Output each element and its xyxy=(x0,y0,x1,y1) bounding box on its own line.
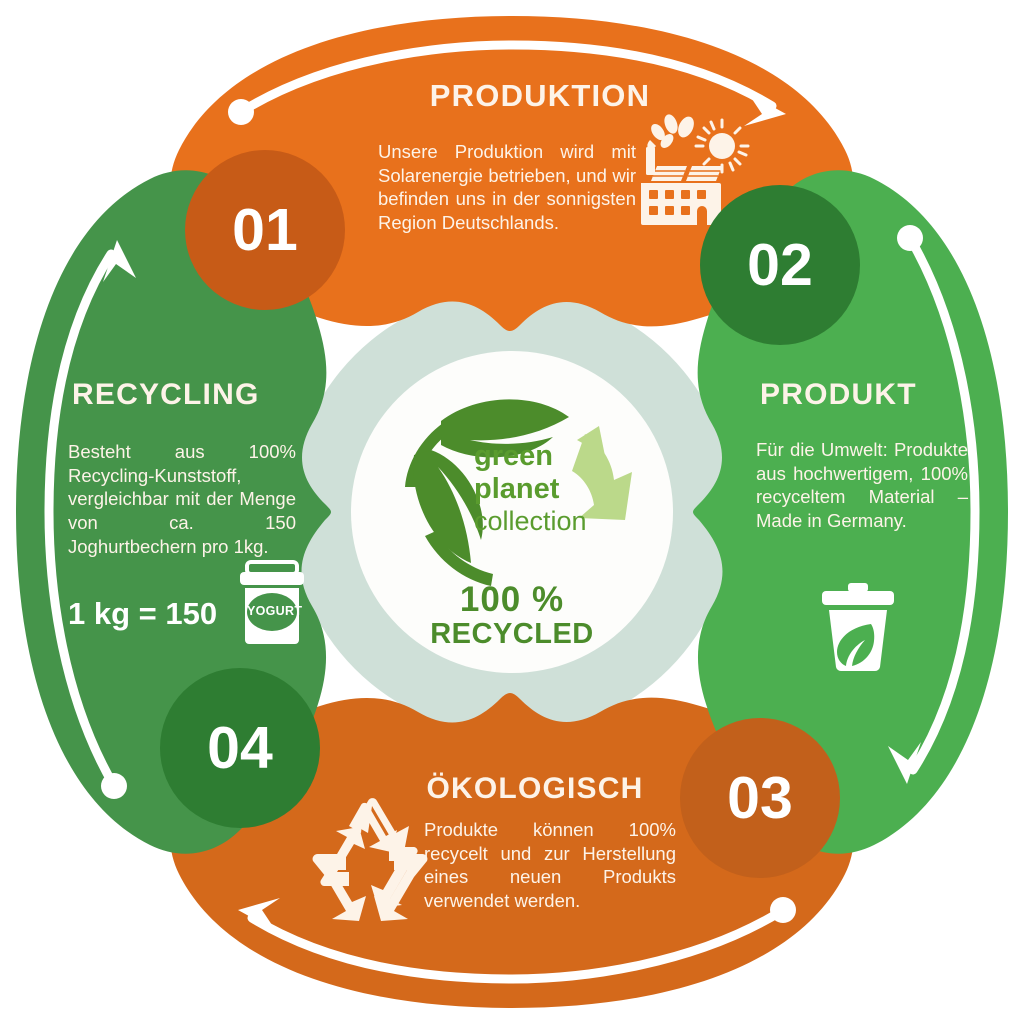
logo-claim-recycled: RECYCLED xyxy=(412,618,612,651)
arrow-right-start-dot xyxy=(897,225,923,251)
arrow-bottom-start-dot xyxy=(770,897,796,923)
panel-body-oekologisch: Produkte können 100% recycelt und zur He… xyxy=(424,818,676,913)
panel-body-recycling: Besteht aus 100% Recycling-Kunststoff, v… xyxy=(68,440,296,558)
badge-03[interactable]: 03 xyxy=(680,718,840,878)
logo-line-planet: planet xyxy=(474,473,559,506)
logo-line-green: green xyxy=(474,440,553,473)
infographic-canvas: PRODUKTION Unsere Produktion wird mit So… xyxy=(0,0,1024,1024)
arrow-top-start-dot xyxy=(228,99,254,125)
badge-04[interactable]: 04 xyxy=(160,668,320,828)
badge-01[interactable]: 01 xyxy=(185,150,345,310)
logo-line-collection: collection xyxy=(474,506,587,537)
yogurt-cup-label: YOGURT xyxy=(247,604,297,618)
panel-body-produkt: Für die Umwelt: Produkte aus hochwertige… xyxy=(756,438,968,533)
recycling-stat: 1 kg = 150 xyxy=(68,596,217,632)
panel-title-produkt: PRODUKT xyxy=(760,378,980,412)
panel-title-recycling: RECYCLING xyxy=(72,378,312,412)
panel-title-oekologisch: ÖKOLOGISCH xyxy=(400,772,670,806)
panel-body-produktion: Unsere Produktion wird mit Solarenergie … xyxy=(378,140,636,235)
arrow-left-start-dot xyxy=(101,773,127,799)
logo-claim-percent: 100 % xyxy=(412,580,612,620)
badge-02[interactable]: 02 xyxy=(700,185,860,345)
panel-title-produktion: PRODUKTION xyxy=(390,78,690,114)
yogurt-cup-icon xyxy=(240,562,304,644)
